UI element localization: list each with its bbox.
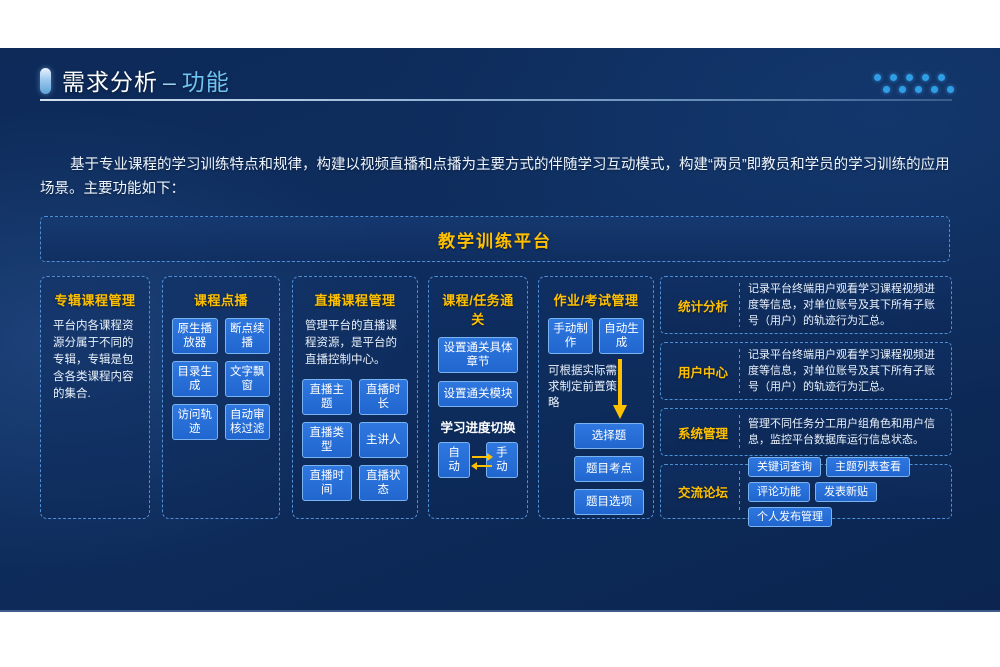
feature-button[interactable]: 直播类型 [302,422,352,458]
decorative-dots [874,68,958,94]
right-module-panel: 统计分析 记录平台终端用户观看学习课程视频进度等信息，对单位账号及其下所有子账号… [660,276,952,519]
module-label: 用户中心 [669,362,737,381]
module-label: 系统管理 [669,423,737,442]
feature-button[interactable]: 主题列表查看 [826,457,910,477]
feature-button[interactable]: 发表新贴 [815,482,877,502]
down-arrow-icon [612,359,628,426]
dot-icon [883,86,890,93]
intro-paragraph: 基于专业课程的学习训练特点和规律，构建以视频直播和点播为主要方式的伴随学习互动模… [40,153,952,201]
row-divider [739,471,740,512]
feature-button[interactable]: 题目考点 [574,456,644,482]
module-card-homework-exam[interactable]: 作业/考试管理 手动制作 自动生成 可根据实际需求制定前置策略 选择题 题目考点… [538,276,654,519]
dot-icon [947,86,954,93]
page-title-main: 需求分析 [62,69,158,95]
feature-button[interactable]: 设置通关模块 [438,381,518,407]
module-description: 记录平台终端用户观看学习课程视频进度等信息，对单位账号及其下所有子账号（用户）的… [748,281,943,329]
feature-button[interactable]: 访问轨迹 [172,404,218,440]
page-title-sub: 功能 [182,69,230,95]
slide-header: 需求分析–功能 [0,48,1000,110]
module-card-album-course[interactable]: 专辑课程管理 平台内各课程资源分属于不同的专辑，专辑是包含各类课程内容的集合. [40,276,150,519]
feature-button[interactable]: 关键词查询 [748,457,821,477]
feature-button[interactable]: 直播状态 [359,465,409,501]
module-title: 课程/任务通关 [438,290,518,328]
module-card-course-task-pass[interactable]: 课程/任务通关 设置通关具体章节 设置通关模块 学习进度切换 自动 手动 [428,276,528,519]
feature-button[interactable]: 直播时长 [359,379,409,415]
dot-icon [874,74,881,81]
row-divider [739,283,740,327]
swap-arrows-icon [470,449,486,471]
switch-row: 自动 手动 [438,442,518,478]
module-card-live-course[interactable]: 直播课程管理 管理平台的直播课程资源，是平台的直播控制中心。 直播主题 直播时长… [292,276,418,519]
module-button-row: 手动制作 自动生成 [548,318,644,354]
module-card-course-vod[interactable]: 课程点播 原生播放器 断点续播 目录生成 文字飘窗 访问轨迹 自动审核过滤 [162,276,280,519]
module-description: 平台内各课程资源分属于不同的专辑，专辑是包含各类课程内容的集合. [53,318,137,403]
feature-button[interactable]: 直播主题 [302,379,352,415]
feature-button[interactable]: 断点续播 [225,318,271,354]
platform-banner-title: 教学训练平台 [438,227,552,252]
forum-button-group: 关键词查询 主题列表查看 评论功能 发表新贴 个人发布管理 [748,457,943,527]
module-description: 记录平台终端用户观看学习课程视频进度等信息，对单位账号及其下所有子账号（用户）的… [748,347,943,395]
module-description: 管理平台的直播课程资源，是平台的直播控制中心。 [305,318,405,369]
module-label: 交流论坛 [669,482,737,501]
dot-icon [915,86,922,93]
feature-button[interactable]: 手动制作 [548,318,593,354]
note-and-arrow-area: 可根据实际需求制定前置策略 [548,363,644,425]
feature-button[interactable]: 个人发布管理 [748,507,832,527]
module-title: 课程点播 [172,290,270,309]
module-button-grid: 直播主题 直播时长 直播类型 主讲人 直播时间 直播状态 [302,379,408,501]
switch-auto-button[interactable]: 自动 [438,442,470,478]
platform-banner: 教学训练平台 [40,216,950,262]
feature-button[interactable]: 直播时间 [302,465,352,501]
module-row-statistics[interactable]: 统计分析 记录平台终端用户观看学习课程视频进度等信息，对单位账号及其下所有子账号… [660,276,952,334]
feature-button[interactable]: 评论功能 [748,482,810,502]
dot-row-top [874,68,958,76]
module-title: 作业/考试管理 [548,290,644,309]
switch-group-label: 学习进度切换 [438,417,518,436]
feature-button[interactable]: 设置通关具体章节 [438,337,518,373]
dot-icon [931,86,938,93]
page-title: 需求分析–功能 [62,63,230,97]
feature-button[interactable]: 自动审核过滤 [225,404,271,440]
question-button-stack: 选择题 题目考点 题目选项 [548,423,644,515]
feature-button[interactable]: 主讲人 [359,422,409,458]
feature-button[interactable]: 题目选项 [574,489,644,515]
dot-row-bottom [883,80,967,88]
feature-button[interactable]: 目录生成 [172,361,218,397]
module-title: 专辑课程管理 [50,290,140,309]
dot-icon [899,86,906,93]
row-divider [739,415,740,449]
feature-button[interactable]: 原生播放器 [172,318,218,354]
module-label: 统计分析 [669,296,737,315]
row-divider [739,349,740,393]
module-description: 管理不同任务分工用户组角色和用户信息，监控平台数据库运行信息状态。 [748,416,943,448]
feature-button[interactable]: 文字飘窗 [225,361,271,397]
feature-button[interactable]: 选择题 [574,423,644,449]
feature-button[interactable]: 自动生成 [599,318,644,354]
title-pill-icon [40,68,51,94]
module-row-user-center[interactable]: 用户中心 记录平台终端用户观看学习课程视频进度等信息，对单位账号及其下所有子账号… [660,342,952,400]
slide-canvas: 需求分析–功能 基于专业课程的学习训练特点和规律，构建以视频直播和点播为主要方式… [0,48,1000,612]
module-row-system-management[interactable]: 系统管理 管理不同任务分工用户组角色和用户信息，监控平台数据库运行信息状态。 [660,408,952,456]
module-button-grid: 原生播放器 断点续播 目录生成 文字飘窗 访问轨迹 自动审核过滤 [172,318,270,440]
page-title-dash: – [158,69,182,95]
module-row-forum[interactable]: 交流论坛 关键词查询 主题列表查看 评论功能 发表新贴 个人发布管理 [660,464,952,519]
title-underline [40,99,952,101]
module-title: 直播课程管理 [302,290,408,309]
